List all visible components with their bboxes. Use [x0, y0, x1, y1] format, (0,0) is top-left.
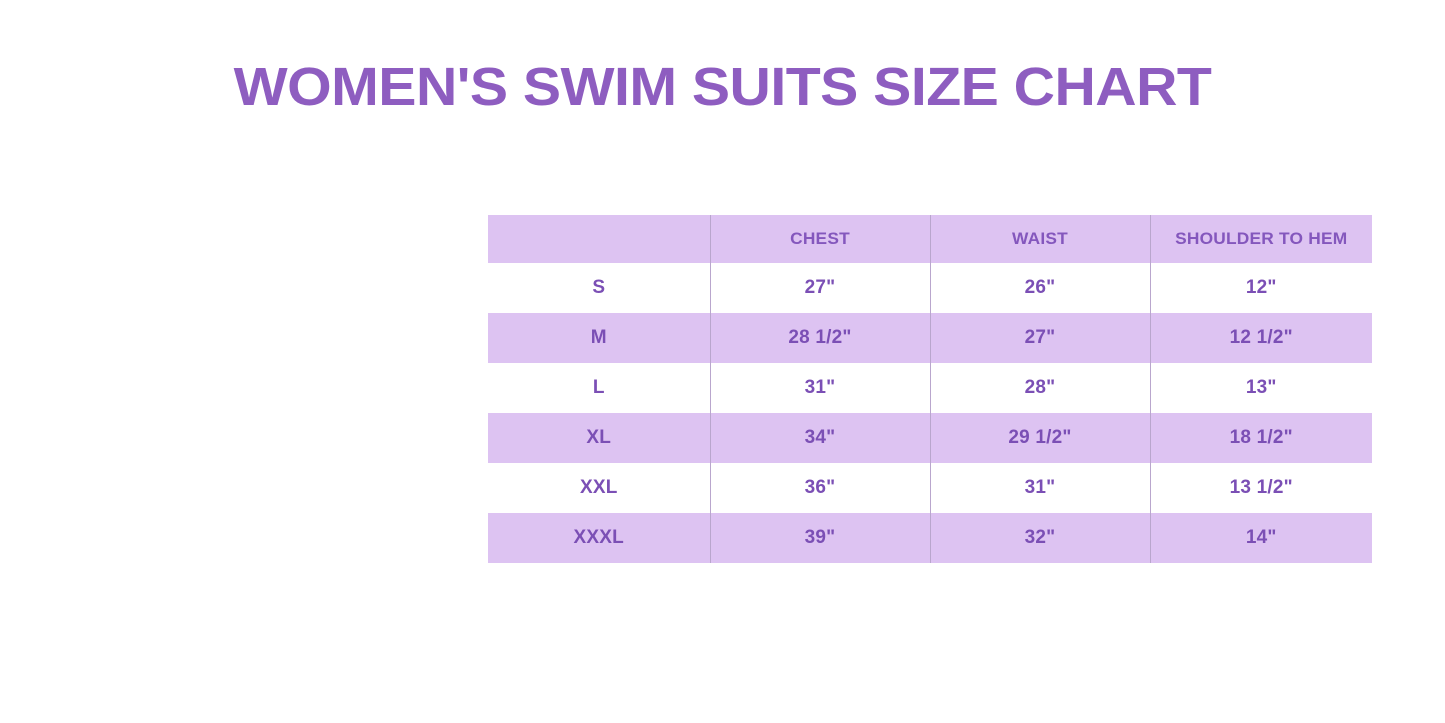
column-header-shoulder-to-hem: SHOULDER TO HEM: [1148, 215, 1374, 263]
cell-chest: 36": [710, 463, 930, 513]
cell-shoulder-to-hem: 13": [1150, 363, 1372, 413]
cell-waist: 26": [930, 263, 1150, 313]
cell-waist: 29 1/2": [930, 413, 1150, 463]
cell-chest: 39": [710, 513, 930, 563]
cell-chest: 34": [710, 413, 930, 463]
column-header-size: [486, 215, 712, 263]
table-row: L 31" 28" 13": [488, 363, 1372, 413]
size-chart-page: WOMEN'S SWIM SUITS SIZE CHART CHEST WAIS…: [0, 0, 1445, 723]
cell-shoulder-to-hem: 14": [1150, 513, 1372, 563]
size-chart-table: CHEST WAIST SHOULDER TO HEM S 27" 26" 12…: [488, 215, 1372, 563]
cell-size: XXXL: [488, 513, 710, 563]
cell-waist: 32": [930, 513, 1150, 563]
cell-size: XL: [488, 413, 710, 463]
column-header-waist: WAIST: [928, 215, 1152, 263]
cell-chest: 28 1/2": [710, 313, 930, 363]
cell-chest: 27": [710, 263, 930, 313]
cell-waist: 28": [930, 363, 1150, 413]
cell-waist: 27": [930, 313, 1150, 363]
cell-chest: 31": [710, 363, 930, 413]
cell-size: M: [488, 313, 710, 363]
table-header-row: CHEST WAIST SHOULDER TO HEM: [488, 215, 1372, 263]
cell-size: XXL: [488, 463, 710, 513]
cell-size: L: [488, 363, 710, 413]
cell-shoulder-to-hem: 12 1/2": [1150, 313, 1372, 363]
column-header-chest: CHEST: [708, 215, 932, 263]
cell-waist: 31": [930, 463, 1150, 513]
table-row: XXXL 39" 32" 14": [488, 513, 1372, 563]
cell-shoulder-to-hem: 12": [1150, 263, 1372, 313]
table-row: XL 34" 29 1/2" 18 1/2": [488, 413, 1372, 463]
page-title: WOMEN'S SWIM SUITS SIZE CHART: [0, 57, 1445, 117]
table-row: XXL 36" 31" 13 1/2": [488, 463, 1372, 513]
cell-shoulder-to-hem: 18 1/2": [1150, 413, 1372, 463]
table-row: M 28 1/2" 27" 12 1/2": [488, 313, 1372, 363]
cell-size: S: [488, 263, 710, 313]
table-row: S 27" 26" 12": [488, 263, 1372, 313]
cell-shoulder-to-hem: 13 1/2": [1150, 463, 1372, 513]
